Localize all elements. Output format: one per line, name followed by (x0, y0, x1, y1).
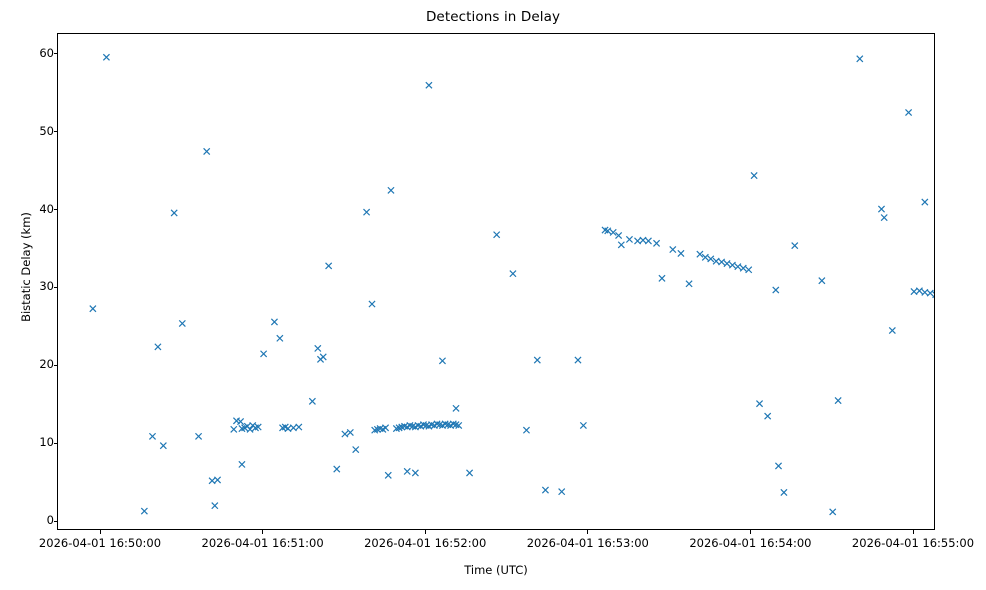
scatter-point (905, 109, 911, 115)
y-tick-mark (54, 53, 58, 54)
y-tick-mark (54, 131, 58, 132)
scatter-point (412, 470, 418, 476)
x-tick-label: 2026-04-01 16:51:00 (202, 537, 324, 550)
scatter-point (746, 267, 752, 273)
scatter-point (231, 426, 237, 432)
x-tick-label: 2026-04-01 16:54:00 (689, 537, 811, 550)
scatter-point (775, 463, 781, 469)
scatter-point (559, 489, 565, 495)
scatter-point (103, 54, 109, 60)
scatter-point (659, 275, 665, 281)
scatter-point (195, 433, 201, 439)
scatter-point (426, 82, 432, 88)
scatter-point (214, 477, 220, 483)
scatter-point (702, 254, 708, 260)
y-tick-label: 10 (39, 436, 54, 448)
scatter-point (404, 468, 410, 474)
scatter-point (678, 250, 684, 256)
scatter-point (179, 320, 185, 326)
x-tick-label: 2026-04-01 16:50:00 (39, 537, 161, 550)
scatter-point (523, 427, 529, 433)
scatter-point (155, 344, 161, 350)
scatter-point (212, 503, 218, 509)
y-axis-label: Bistatic Delay (km) (19, 137, 33, 397)
scatter-point (296, 424, 302, 430)
scatter-point (765, 413, 771, 419)
scatter-point (857, 56, 863, 62)
x-tick-label: 2026-04-01 16:52:00 (364, 537, 486, 550)
scatter-point (792, 243, 798, 249)
scatter-point (237, 418, 243, 424)
x-tick-mark (100, 530, 101, 534)
x-tick-mark (587, 530, 588, 534)
scatter-point (309, 398, 315, 404)
scatter-point (382, 425, 388, 431)
scatter-point (369, 301, 375, 307)
scatter-point (889, 327, 895, 333)
scatter-point (933, 292, 935, 298)
scatter-point (575, 357, 581, 363)
scatter-point (686, 281, 692, 287)
y-tick-label: 50 (39, 125, 54, 137)
y-tick-mark (54, 521, 58, 522)
scatter-point (708, 256, 714, 262)
scatter-point (756, 401, 762, 407)
scatter-point (634, 238, 640, 244)
scatter-point (751, 172, 757, 178)
x-axis-label: Time (UTC) (57, 563, 935, 577)
y-tick-label: 20 (39, 358, 54, 370)
scatter-point (149, 433, 155, 439)
scatter-point (878, 206, 884, 212)
scatter-point (927, 290, 933, 296)
scatter-point (334, 466, 340, 472)
x-tick-mark (262, 530, 263, 534)
scatter-point (640, 237, 646, 243)
scatter-point (724, 260, 730, 266)
scatter-point (171, 210, 177, 216)
scatter-point (388, 187, 394, 193)
scatter-point (277, 335, 283, 341)
scatter-point (247, 426, 253, 432)
scatter-point (618, 242, 624, 248)
scatter-series (58, 34, 935, 530)
scatter-point (718, 259, 724, 265)
scatter-point (353, 447, 359, 453)
y-tick-mark (54, 287, 58, 288)
x-tick-label: 2026-04-01 16:55:00 (852, 537, 974, 550)
scatter-point (835, 397, 841, 403)
scatter-point (90, 306, 96, 312)
scatter-point (385, 472, 391, 478)
scatter-point (542, 487, 548, 493)
scatter-point (363, 209, 369, 215)
page-title: Detections in Delay (0, 9, 986, 25)
scatter-point (819, 278, 825, 284)
scatter-point (510, 271, 516, 277)
scatter-point (729, 262, 735, 268)
scatter-point (534, 357, 540, 363)
scatter-point (261, 351, 267, 357)
scatter-point (141, 508, 147, 514)
scatter-point (881, 215, 887, 221)
scatter-point (645, 238, 651, 244)
scatter-point (453, 405, 459, 411)
scatter-point (830, 509, 836, 515)
scatter-point (439, 358, 445, 364)
scatter-point (735, 264, 741, 270)
x-tick-mark (913, 530, 914, 534)
y-tick-mark (54, 365, 58, 366)
scatter-point (326, 263, 332, 269)
x-tick-mark (750, 530, 751, 534)
scatter-point (697, 251, 703, 257)
scatter-point (494, 232, 500, 238)
y-tick-label: 30 (39, 280, 54, 292)
scatter-point (315, 345, 321, 351)
x-tick-label: 2026-04-01 16:53:00 (527, 537, 649, 550)
scatter-point (626, 236, 632, 242)
scatter-point (239, 461, 245, 467)
y-tick-label: 60 (39, 47, 54, 59)
plot-axes-area (57, 33, 935, 530)
scatter-point (580, 422, 586, 428)
scatter-point (616, 232, 622, 238)
y-tick-mark (54, 443, 58, 444)
scatter-point (922, 199, 928, 205)
scatter-point (610, 229, 616, 235)
scatter-point (160, 443, 166, 449)
scatter-point (916, 288, 922, 294)
scatter-point (342, 431, 348, 437)
y-tick-label: 40 (39, 203, 54, 215)
scatter-points-layer (58, 34, 935, 530)
y-tick-mark (54, 209, 58, 210)
scatter-point (653, 240, 659, 246)
scatter-point (781, 489, 787, 495)
scatter-point (740, 265, 746, 271)
scatter-point (271, 319, 277, 325)
y-tick-label: 0 (47, 514, 54, 526)
scatter-point (347, 429, 353, 435)
scatter-point (670, 246, 676, 252)
x-tick-mark (425, 530, 426, 534)
matplotlib-figure: Detections in Delay 0102030405060 2026-0… (0, 0, 986, 590)
scatter-point (204, 148, 210, 154)
scatter-point (466, 470, 472, 476)
scatter-point (773, 287, 779, 293)
scatter-point (320, 354, 326, 360)
